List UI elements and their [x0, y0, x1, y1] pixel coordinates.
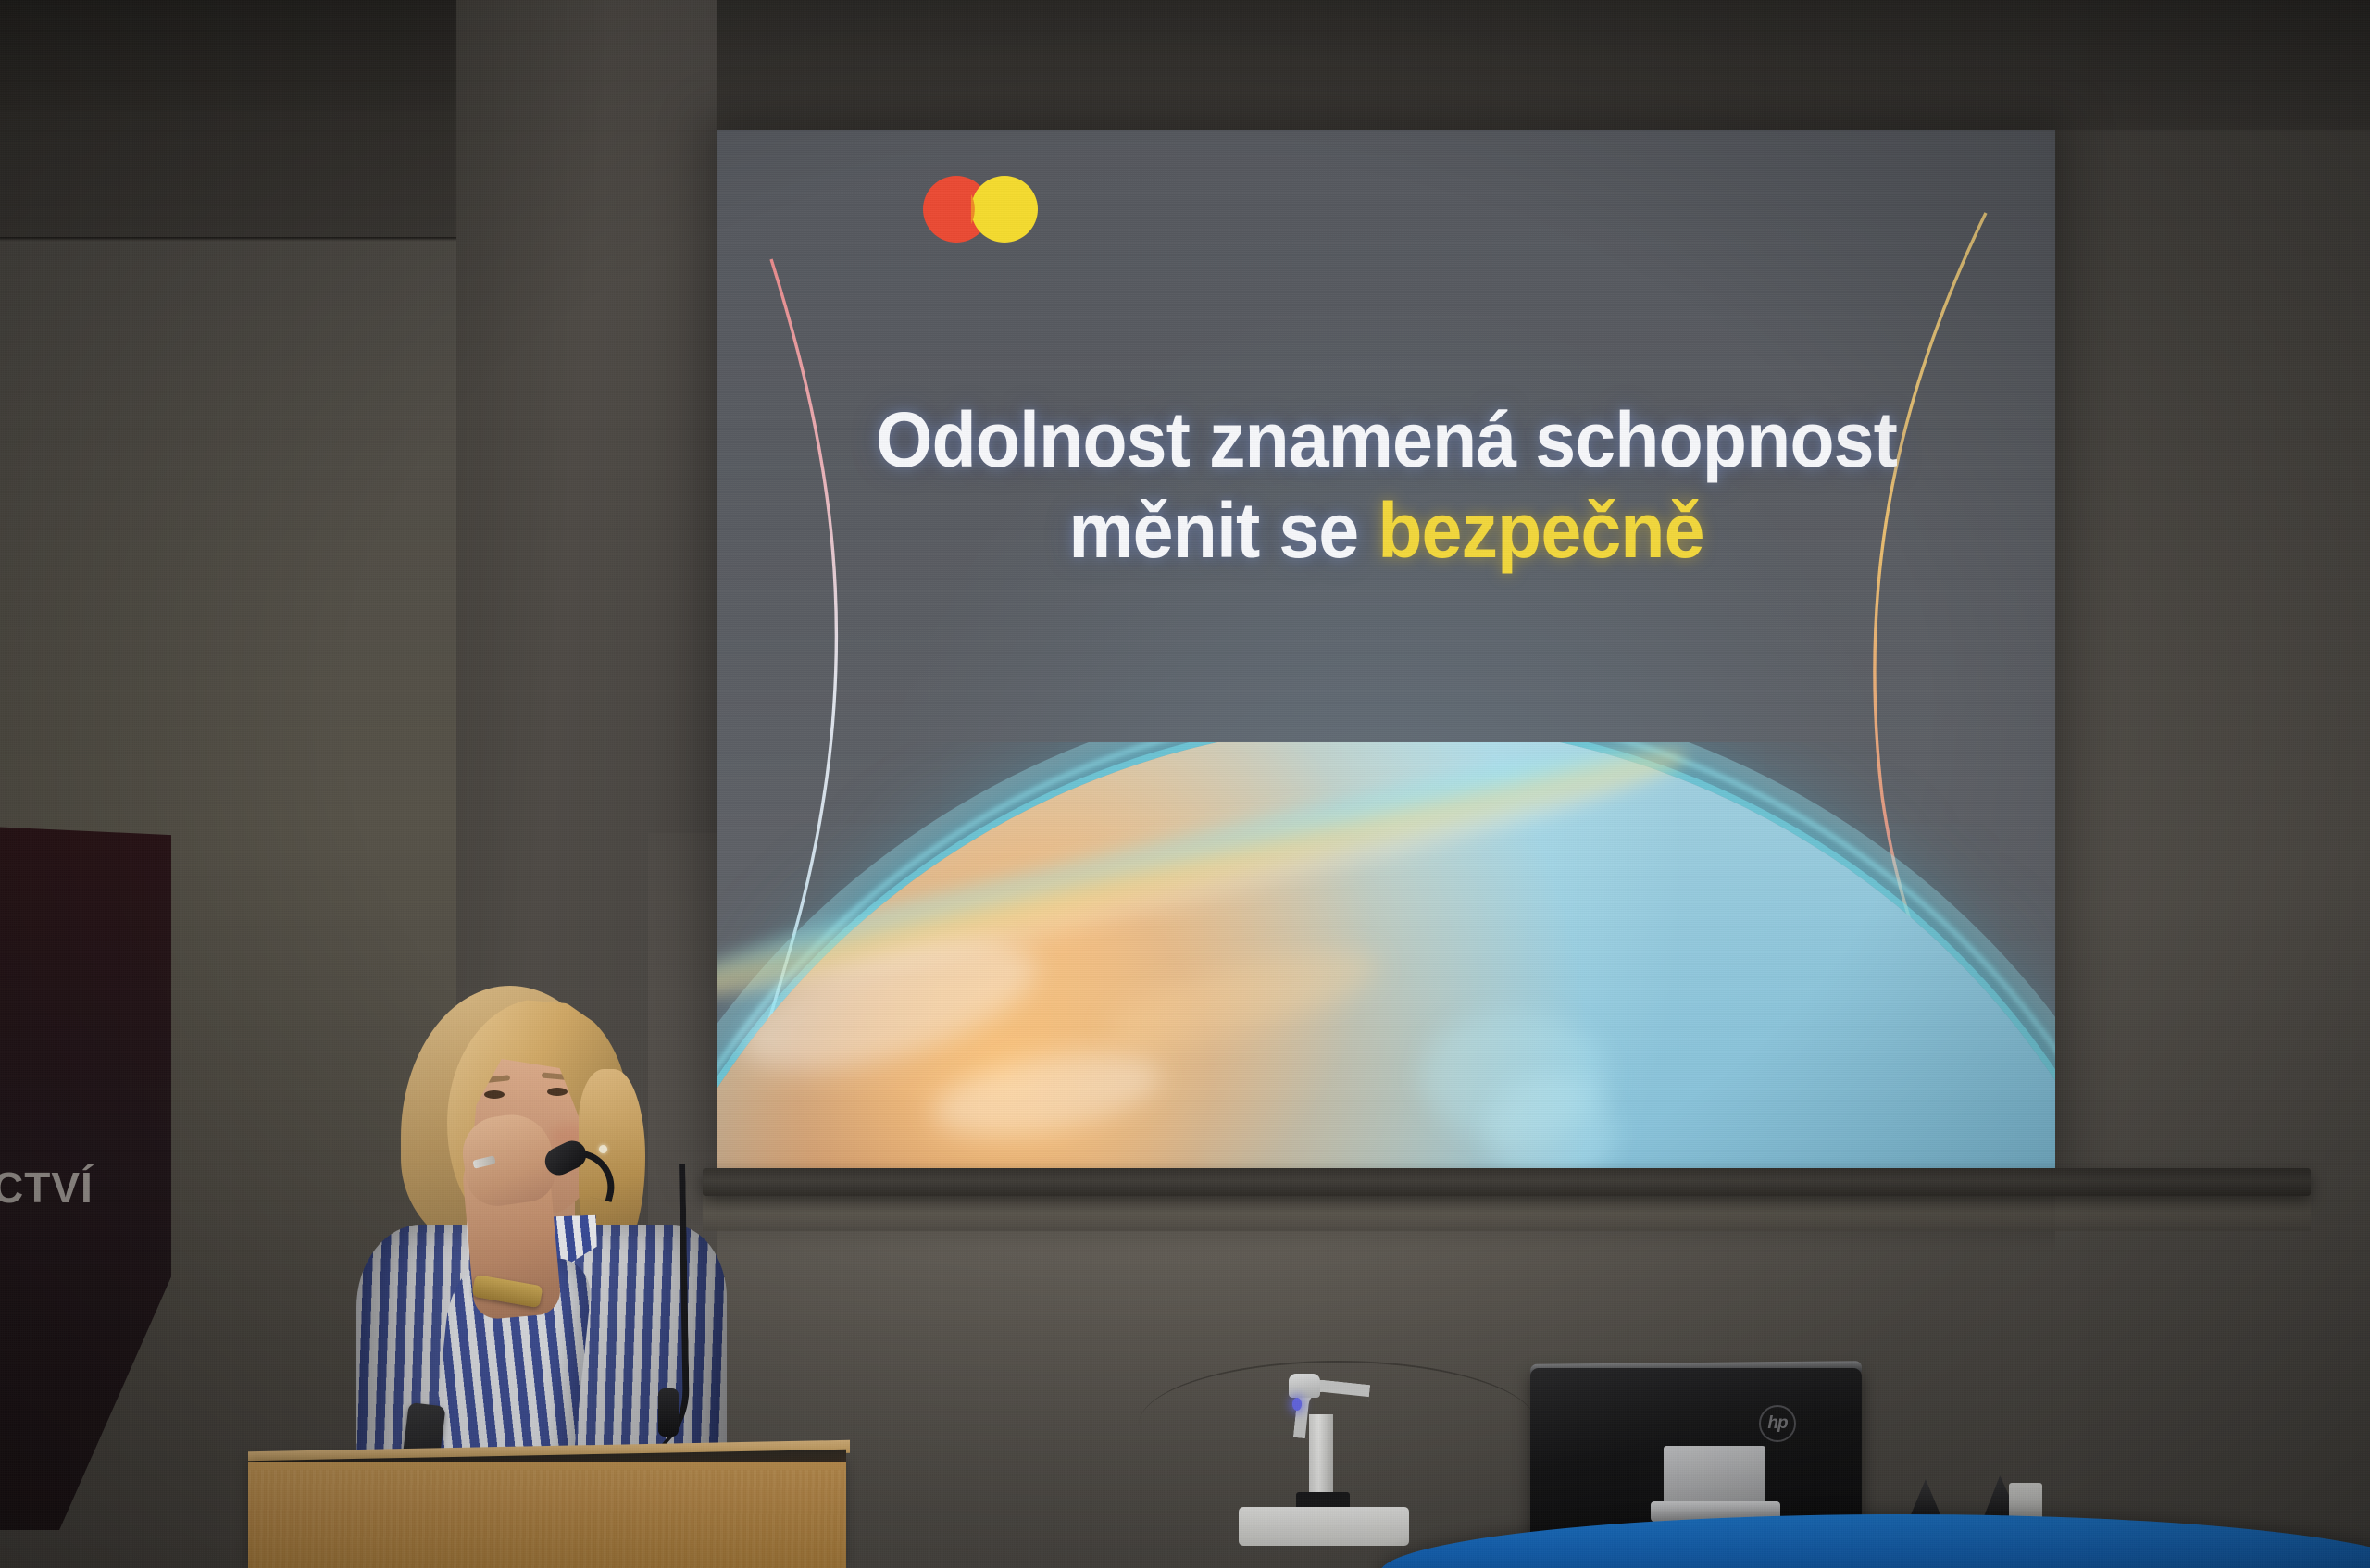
wall-ledge	[703, 1192, 2311, 1231]
wall-seam	[0, 237, 456, 242]
projection-screen: Odolnost znamená schopnost měnit se bezp…	[717, 130, 2055, 1168]
hp-logo-icon: hp	[1759, 1405, 1796, 1442]
speaker-presenter	[329, 986, 764, 1504]
wall-upper-dark-band	[717, 0, 2370, 130]
slide-title-line-2: měnit se bezpečně	[792, 489, 1980, 574]
speaker-earring	[599, 1145, 607, 1153]
desk-white-device	[2009, 1483, 2042, 1520]
slide-title: Odolnost znamená schopnost měnit se bezp…	[757, 398, 2014, 573]
document-camera-base	[1239, 1507, 1409, 1546]
podium-wood-grain	[248, 1470, 846, 1568]
earth-from-space-image	[717, 742, 2055, 1168]
slide-title-line-1: Odolnost znamená schopnost	[876, 396, 1897, 483]
microphone-base-collar	[658, 1388, 679, 1437]
presentation-photo-scene: Odolnost znamená schopnost měnit se bezp…	[0, 0, 2370, 1568]
slide-title-highlight: bezpečně	[1378, 487, 1703, 574]
screen-roller-housing	[703, 1168, 2311, 1196]
screen-surface: Odolnost znamená schopnost měnit se bezp…	[717, 130, 2055, 1168]
slide-title-line-2-prefix: měnit se	[1068, 487, 1378, 574]
document-camera-head	[1289, 1374, 1320, 1398]
banner-text: CTVÍ	[0, 1163, 94, 1213]
document-camera-led-icon	[1292, 1398, 1302, 1411]
speaker-eye-left	[484, 1090, 505, 1099]
speaker-eye-right	[547, 1088, 568, 1096]
wall-upper-left-top-panel	[0, 0, 456, 111]
